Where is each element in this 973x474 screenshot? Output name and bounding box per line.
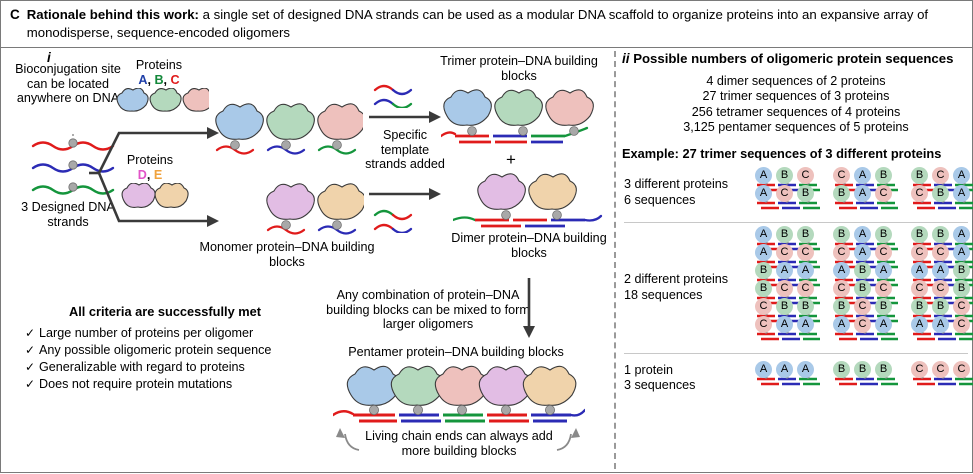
protein-circle-A: A	[932, 316, 949, 333]
panel-letter: C	[10, 6, 20, 23]
protein-circle-C: C	[911, 244, 928, 261]
protein-circle-B: B	[911, 226, 928, 243]
panel-ii: ii Possible numbers of oligomeric protei…	[618, 48, 973, 474]
protein-circle-A: A	[797, 316, 814, 333]
protein-circle-B: B	[953, 280, 970, 297]
group-label: 1 protein3 sequences	[624, 363, 754, 394]
protein-circle-B: B	[875, 298, 892, 315]
sequence-item: AAC	[910, 329, 973, 340]
group-label-line2: 3 sequences	[624, 378, 754, 394]
protein-circle-A: A	[854, 185, 871, 202]
protein-circle-A: A	[833, 262, 850, 279]
protein-circle-B: B	[755, 280, 772, 297]
specific-template-caption: Specific template strands added	[365, 128, 445, 172]
protein-circle-B: B	[797, 226, 814, 243]
protein-circle-B: B	[833, 185, 850, 202]
protein-circle-B: B	[854, 280, 871, 297]
protein-circle-B: B	[932, 298, 949, 315]
figure-header: C Rationale behind this work: a single s…	[1, 1, 972, 48]
criteria-title: All criteria are successfully met	[25, 304, 305, 319]
criteria-list: ✓Large number of proteins per oligomer ✓…	[25, 325, 305, 393]
sequence-rows: ABBBABBBAACCCACCCABAAABAAABBCCCBCCCBCBBB…	[754, 232, 973, 344]
living-chain-caption: Living chain ends can always add more bu…	[359, 429, 559, 458]
protein-circle-C: C	[932, 280, 949, 297]
protein-circle-C: C	[854, 316, 871, 333]
criteria-item: ✓Generalizable with regard to proteins	[25, 359, 305, 376]
sequence-group: 2 different proteins18 sequencesABBBABBB…	[618, 228, 973, 348]
check-icon: ✓	[25, 325, 39, 342]
stat-line: 27 trimer sequences of 3 proteins	[618, 89, 973, 104]
sequence-item: ACB	[754, 198, 820, 209]
panel-ii-title: ii Possible numbers of oligomeric protei…	[618, 51, 973, 66]
header-bold-lead: Rationale behind this work:	[27, 7, 199, 22]
protein-circle-C: C	[776, 185, 793, 202]
monomer-caption: Monomer protein–DNA building blocks	[197, 240, 377, 269]
sequence-groups: 3 different proteins6 sequencesABCCABBCA…	[618, 169, 973, 398]
stat-line: 256 tetramer sequences of 4 proteins	[618, 105, 973, 120]
protein-circle-A: A	[953, 185, 970, 202]
group-label-line1: 1 protein	[624, 363, 754, 379]
panel-ii-roman: ii	[622, 51, 630, 66]
sequence-row: CAAACAAAC	[754, 329, 973, 340]
template-strands-top	[369, 78, 441, 108]
protein-circle-A: A	[797, 262, 814, 279]
criteria-item: ✓Does not require protein mutations	[25, 376, 305, 393]
trimer-building-block	[441, 86, 601, 148]
protein-circle-A: A	[833, 316, 850, 333]
protein-circle-B: B	[932, 185, 949, 202]
sequence-item: AAA	[754, 374, 820, 385]
protein-circle-B: B	[911, 298, 928, 315]
protein-circle-B: B	[776, 298, 793, 315]
protein-circle-A: A	[755, 185, 772, 202]
sep2: ,	[164, 73, 171, 87]
branch-arrows	[89, 103, 219, 243]
group-label: 3 different proteins6 sequences	[624, 177, 754, 208]
group-separator	[624, 353, 968, 354]
protein-circle-A: A	[755, 244, 772, 261]
arrow-template-top	[369, 110, 441, 124]
protein-circle-A: A	[755, 167, 772, 184]
plus-sign: +	[506, 150, 516, 170]
proteins-abc-letters: A, B, C	[111, 73, 207, 87]
protein-circle-C: C	[833, 167, 850, 184]
protein-circle-A: A	[854, 167, 871, 184]
protein-circle-C: C	[875, 185, 892, 202]
stat-line: 3,125 pentamer sequences of 5 proteins	[618, 120, 973, 135]
stats-list: 4 dimer sequences of 2 proteins 27 trime…	[618, 74, 973, 136]
group-label-line1: 2 different proteins	[624, 272, 754, 288]
pentamer-building-block	[333, 363, 585, 425]
protein-circle-A: A	[875, 316, 892, 333]
protein-label-B: B	[154, 73, 163, 87]
protein-circle-C: C	[755, 298, 772, 315]
protein-circle-A: A	[854, 226, 871, 243]
group-separator	[624, 222, 968, 223]
sequence-group: 3 different proteins6 sequencesABCCABBCA…	[618, 169, 973, 217]
sequence-item: CBA	[910, 198, 973, 209]
protein-circle-B: B	[833, 298, 850, 315]
protein-circle-A: A	[911, 316, 928, 333]
protein-circle-C: C	[797, 167, 814, 184]
protein-circle-C: C	[875, 280, 892, 297]
criteria-box: All criteria are successfully met ✓Large…	[25, 304, 305, 393]
protein-circle-C: C	[797, 280, 814, 297]
protein-circle-B: B	[953, 262, 970, 279]
protein-circle-B: B	[797, 298, 814, 315]
protein-circle-A: A	[953, 226, 970, 243]
protein-circle-A: A	[911, 262, 928, 279]
sequence-item: ACA	[832, 329, 898, 340]
protein-circle-A: A	[932, 262, 949, 279]
protein-circle-A: A	[875, 262, 892, 279]
protein-circle-A: A	[776, 262, 793, 279]
stat-line: 4 dimer sequences of 2 proteins	[618, 74, 973, 89]
protein-circle-A: A	[854, 244, 871, 261]
protein-circle-B: B	[797, 185, 814, 202]
sequence-row: ACBBACCBA	[754, 198, 973, 209]
mixing-caption: Any combination of protein–DNA building …	[319, 288, 537, 332]
criteria-text: Any possible oligomeric protein sequence	[39, 342, 271, 359]
protein-circle-A: A	[953, 167, 970, 184]
protein-circle-B: B	[854, 262, 871, 279]
sequence-item: BBB	[832, 374, 898, 385]
sequence-group: 1 protein3 sequencesAAABBBCCC	[618, 359, 973, 398]
arrow-down-mix	[521, 278, 537, 338]
monomer-blocks-de	[264, 180, 364, 240]
group-label-line2: 18 sequences	[624, 288, 754, 304]
protein-circle-A: A	[755, 226, 772, 243]
protein-circle-C: C	[875, 244, 892, 261]
protein-circle-C: C	[953, 298, 970, 315]
protein-circle-A: A	[776, 316, 793, 333]
group-label: 2 different proteins18 sequences	[624, 272, 754, 303]
check-icon: ✓	[25, 359, 39, 376]
protein-circle-C: C	[776, 280, 793, 297]
template-strands-bottom	[369, 203, 441, 233]
criteria-text: Generalizable with regard to proteins	[39, 359, 245, 376]
panel-divider	[614, 51, 616, 469]
criteria-text: Large number of proteins per oligomer	[39, 325, 253, 342]
protein-circle-C: C	[932, 244, 949, 261]
protein-circle-B: B	[875, 226, 892, 243]
protein-label-C: C	[171, 73, 180, 87]
example-title: Example: 27 trimer sequences of 3 differ…	[618, 146, 973, 161]
sequence-item: CAA	[754, 329, 820, 340]
protein-circle-B: B	[776, 226, 793, 243]
figure-panel-c: C Rationale behind this work: a single s…	[0, 0, 973, 473]
protein-circle-C: C	[755, 316, 772, 333]
protein-circle-C: C	[953, 316, 970, 333]
protein-circle-C: C	[833, 280, 850, 297]
panel-ii-title-text: Possible numbers of oligomeric protein s…	[633, 51, 953, 66]
arrow-template-bottom	[369, 187, 441, 201]
criteria-text: Does not require protein mutations	[39, 376, 232, 393]
protein-circle-B: B	[833, 226, 850, 243]
pentamer-caption: Pentamer protein–DNA building blocks	[331, 345, 581, 360]
check-icon: ✓	[25, 342, 39, 359]
protein-circle-C: C	[797, 244, 814, 261]
protein-circle-C: C	[911, 185, 928, 202]
group-label-line2: 6 sequences	[624, 193, 754, 209]
proteins-abc-label: Proteins	[111, 58, 207, 73]
check-icon: ✓	[25, 376, 39, 393]
protein-circle-C: C	[932, 167, 949, 184]
dimer-caption: Dimer protein–DNA building blocks	[449, 231, 609, 260]
sequence-item: BAC	[832, 198, 898, 209]
protein-circle-C: C	[854, 298, 871, 315]
criteria-item: ✓Any possible oligomeric protein sequenc…	[25, 342, 305, 359]
protein-circle-B: B	[875, 167, 892, 184]
sequence-row: AAABBBCCC	[754, 374, 973, 385]
protein-circle-C: C	[911, 280, 928, 297]
criteria-item: ✓Large number of proteins per oligomer	[25, 325, 305, 342]
protein-circle-B: B	[776, 167, 793, 184]
sequence-rows: ABCCABBCAACBBACCBA	[754, 173, 973, 213]
header-caption: Rationale behind this work: a single set…	[27, 6, 962, 41]
protein-circle-C: C	[776, 244, 793, 261]
panel-i: i Bioconjugation site can be located any…	[1, 48, 614, 474]
protein-circle-A: A	[953, 244, 970, 261]
group-label-line1: 3 different proteins	[624, 177, 754, 193]
protein-circle-B: B	[911, 167, 928, 184]
trimer-caption: Trimer protein–DNA building blocks	[439, 54, 599, 83]
protein-circle-C: C	[833, 244, 850, 261]
monomer-blocks-abc	[213, 100, 363, 160]
protein-circle-B: B	[755, 262, 772, 279]
sequence-item: CCC	[910, 374, 973, 385]
sequence-rows: AAABBBCCC	[754, 367, 973, 389]
protein-circle-B: B	[932, 226, 949, 243]
dimer-building-block	[453, 170, 603, 232]
